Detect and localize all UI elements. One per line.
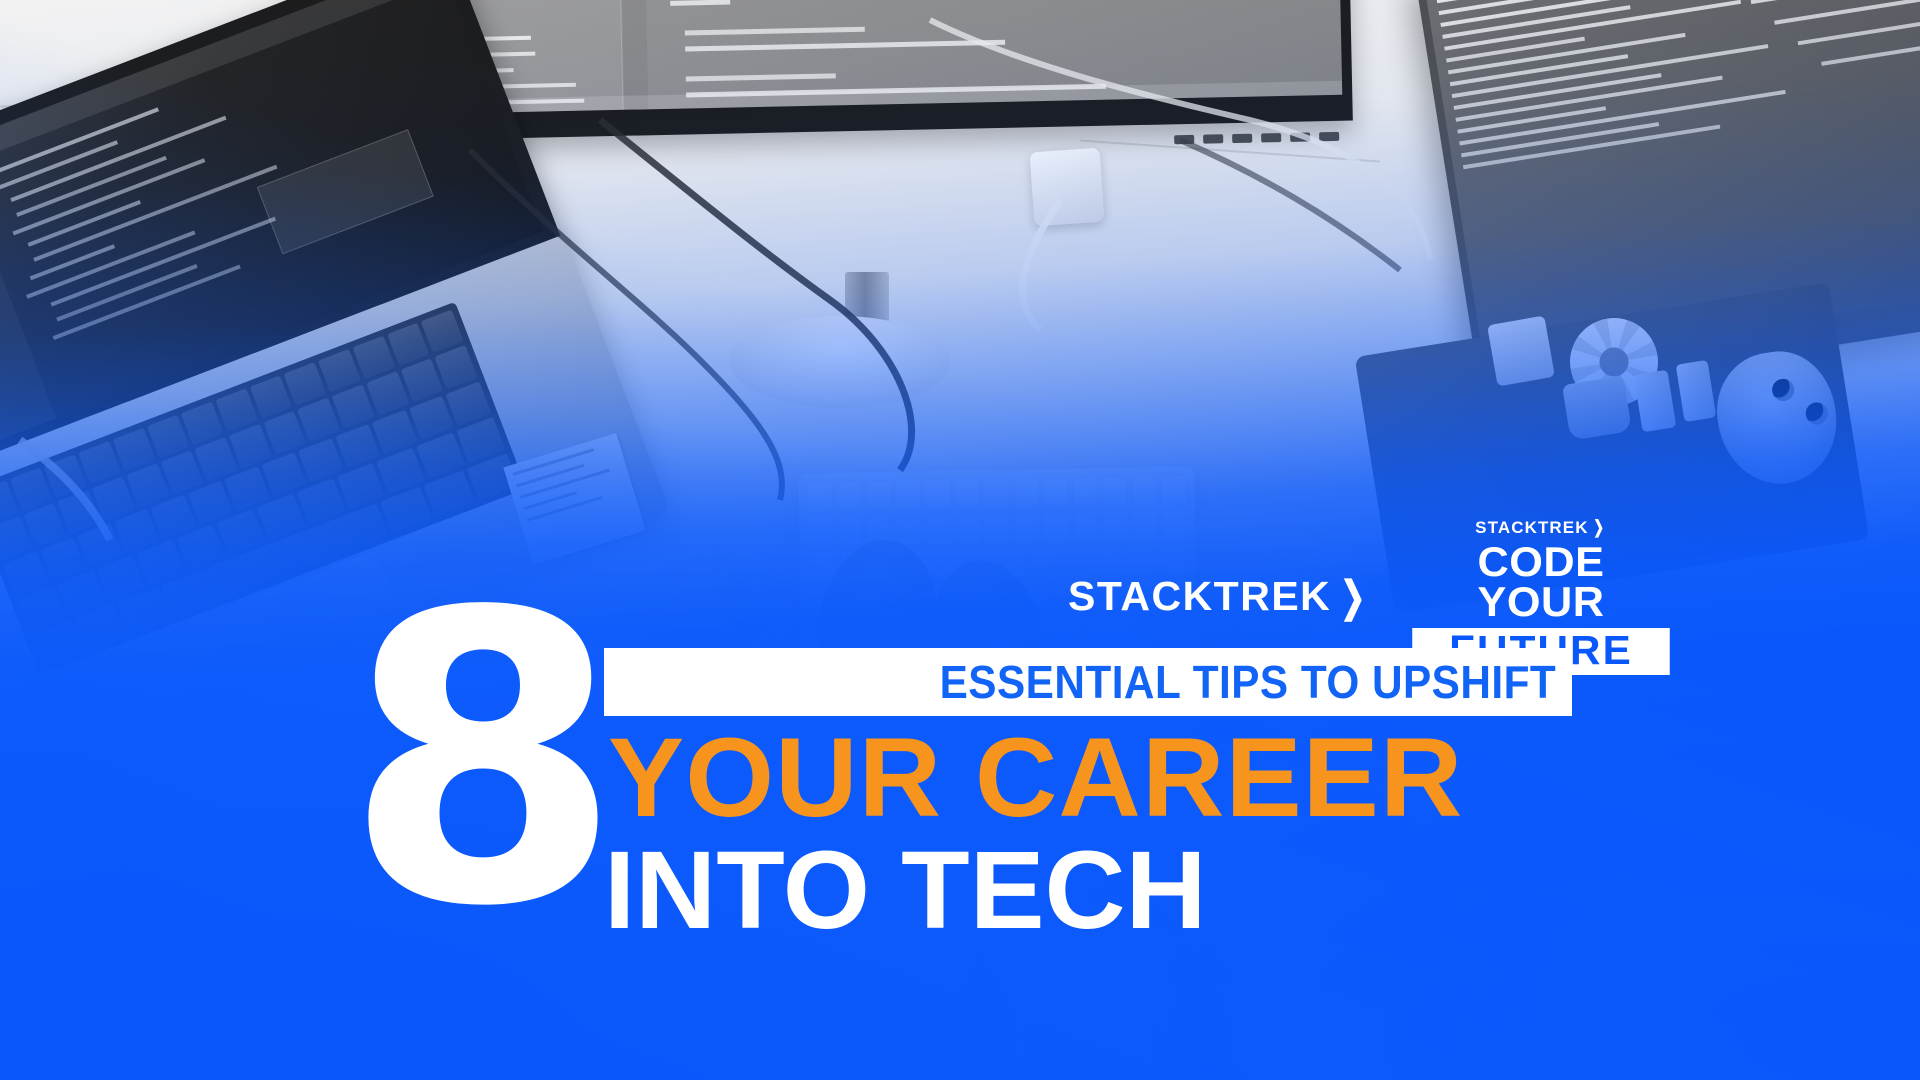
badge-stacktrek-wordmark: STACKTREK ❯ [1416, 518, 1666, 536]
badge-line-code-your: CODE YOUR [1412, 542, 1670, 623]
badge-stacktrek-text: STACKTREK [1475, 519, 1588, 536]
headline-line-1-text: ESSENTIAL TIPS TO UPSHIFT [939, 659, 1556, 705]
headline-line-3-text: INTO TECH [604, 836, 1207, 946]
chevron-right-icon: ❯ [1340, 576, 1366, 618]
promo-banner: STACKTREK ❯ STACKTREK ❯ CODE YOUR FUTURE… [0, 0, 1920, 1080]
headline-line-2-text: YOUR CAREER [608, 722, 1463, 834]
headline-number-eight: 8 [344, 598, 612, 926]
stacktrek-wordmark[interactable]: STACKTREK ❯ [1068, 576, 1372, 618]
stacktrek-wordmark-text: STACKTREK [1068, 576, 1331, 617]
chevron-right-icon: ❯ [1593, 518, 1605, 536]
headline-line-1-bar: ESSENTIAL TIPS TO UPSHIFT [604, 648, 1572, 716]
